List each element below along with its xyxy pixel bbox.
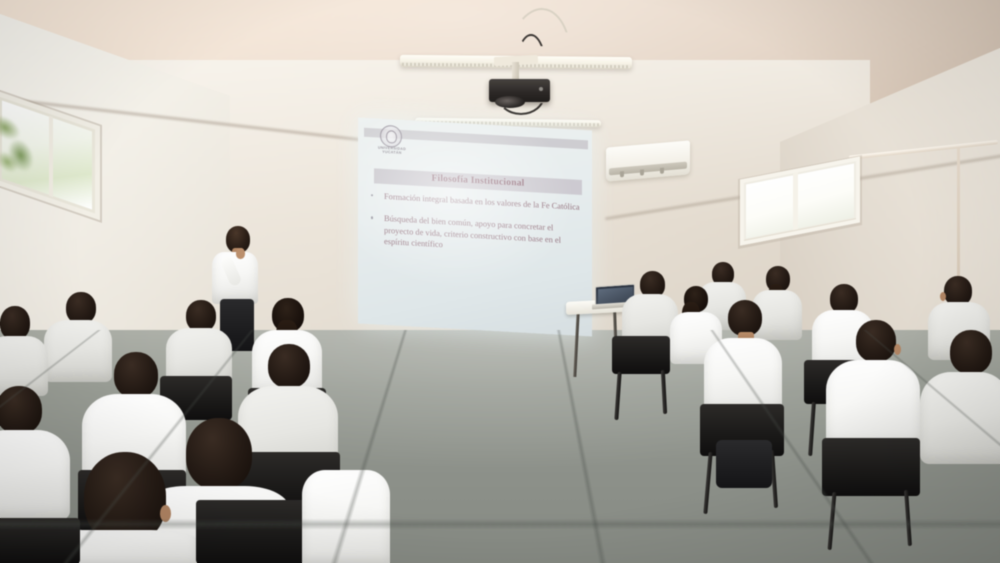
student-ear	[894, 344, 901, 355]
student-head	[950, 330, 992, 374]
classroom-scene: UNIVERSIDAD YUCATÁN Filosofía Institucio…	[0, 0, 1000, 563]
ac-vent-tab	[620, 171, 624, 177]
slide-bullet: Formación integral basada en los valores…	[368, 190, 584, 213]
student-trousers	[716, 440, 772, 488]
ac-vent-tab	[660, 168, 664, 174]
student-head	[728, 300, 762, 336]
student-ear	[940, 292, 946, 301]
ac-vent-tab	[640, 169, 644, 175]
bullet-dot-icon	[371, 217, 373, 220]
projector-led-icon	[539, 87, 543, 91]
window-left-mullion	[49, 116, 53, 197]
projection-screen: UNIVERSIDAD YUCATÁN Filosofía Institucio…	[358, 117, 592, 336]
student-torso	[704, 338, 782, 414]
presenter-hand	[236, 248, 245, 259]
student-torso	[0, 430, 70, 520]
chair-back-foreground	[0, 518, 80, 563]
bullet-dot-icon	[371, 194, 373, 197]
student-head	[856, 320, 896, 362]
student-head	[268, 344, 310, 388]
window-right-mullion	[793, 172, 798, 231]
student-head	[0, 306, 30, 340]
student-head	[114, 352, 158, 398]
student-head	[0, 386, 42, 434]
student-head	[186, 418, 252, 490]
slide-bullet-text: Búsqueda del bien común, apoyo para conc…	[384, 213, 584, 258]
student-torso	[826, 360, 920, 448]
slide-bullet-text: Formación integral basada en los valores…	[384, 191, 584, 214]
student-torso	[920, 372, 1000, 464]
student-torso	[44, 320, 112, 382]
university-logo-icon	[380, 125, 402, 148]
slide-body: Formación integral basada en los valores…	[368, 190, 584, 320]
slide-bullet: Búsqueda del bien común, apoyo para conc…	[368, 212, 584, 258]
chair-back	[822, 438, 920, 496]
chair-back	[612, 336, 670, 374]
student-torso	[302, 470, 390, 563]
student-ear	[160, 505, 171, 522]
slide-title: Filosofía Institucional	[374, 168, 582, 195]
chair-back-foreground	[196, 500, 316, 563]
slide-logo-text: UNIVERSIDAD YUCATÁN	[370, 145, 414, 156]
